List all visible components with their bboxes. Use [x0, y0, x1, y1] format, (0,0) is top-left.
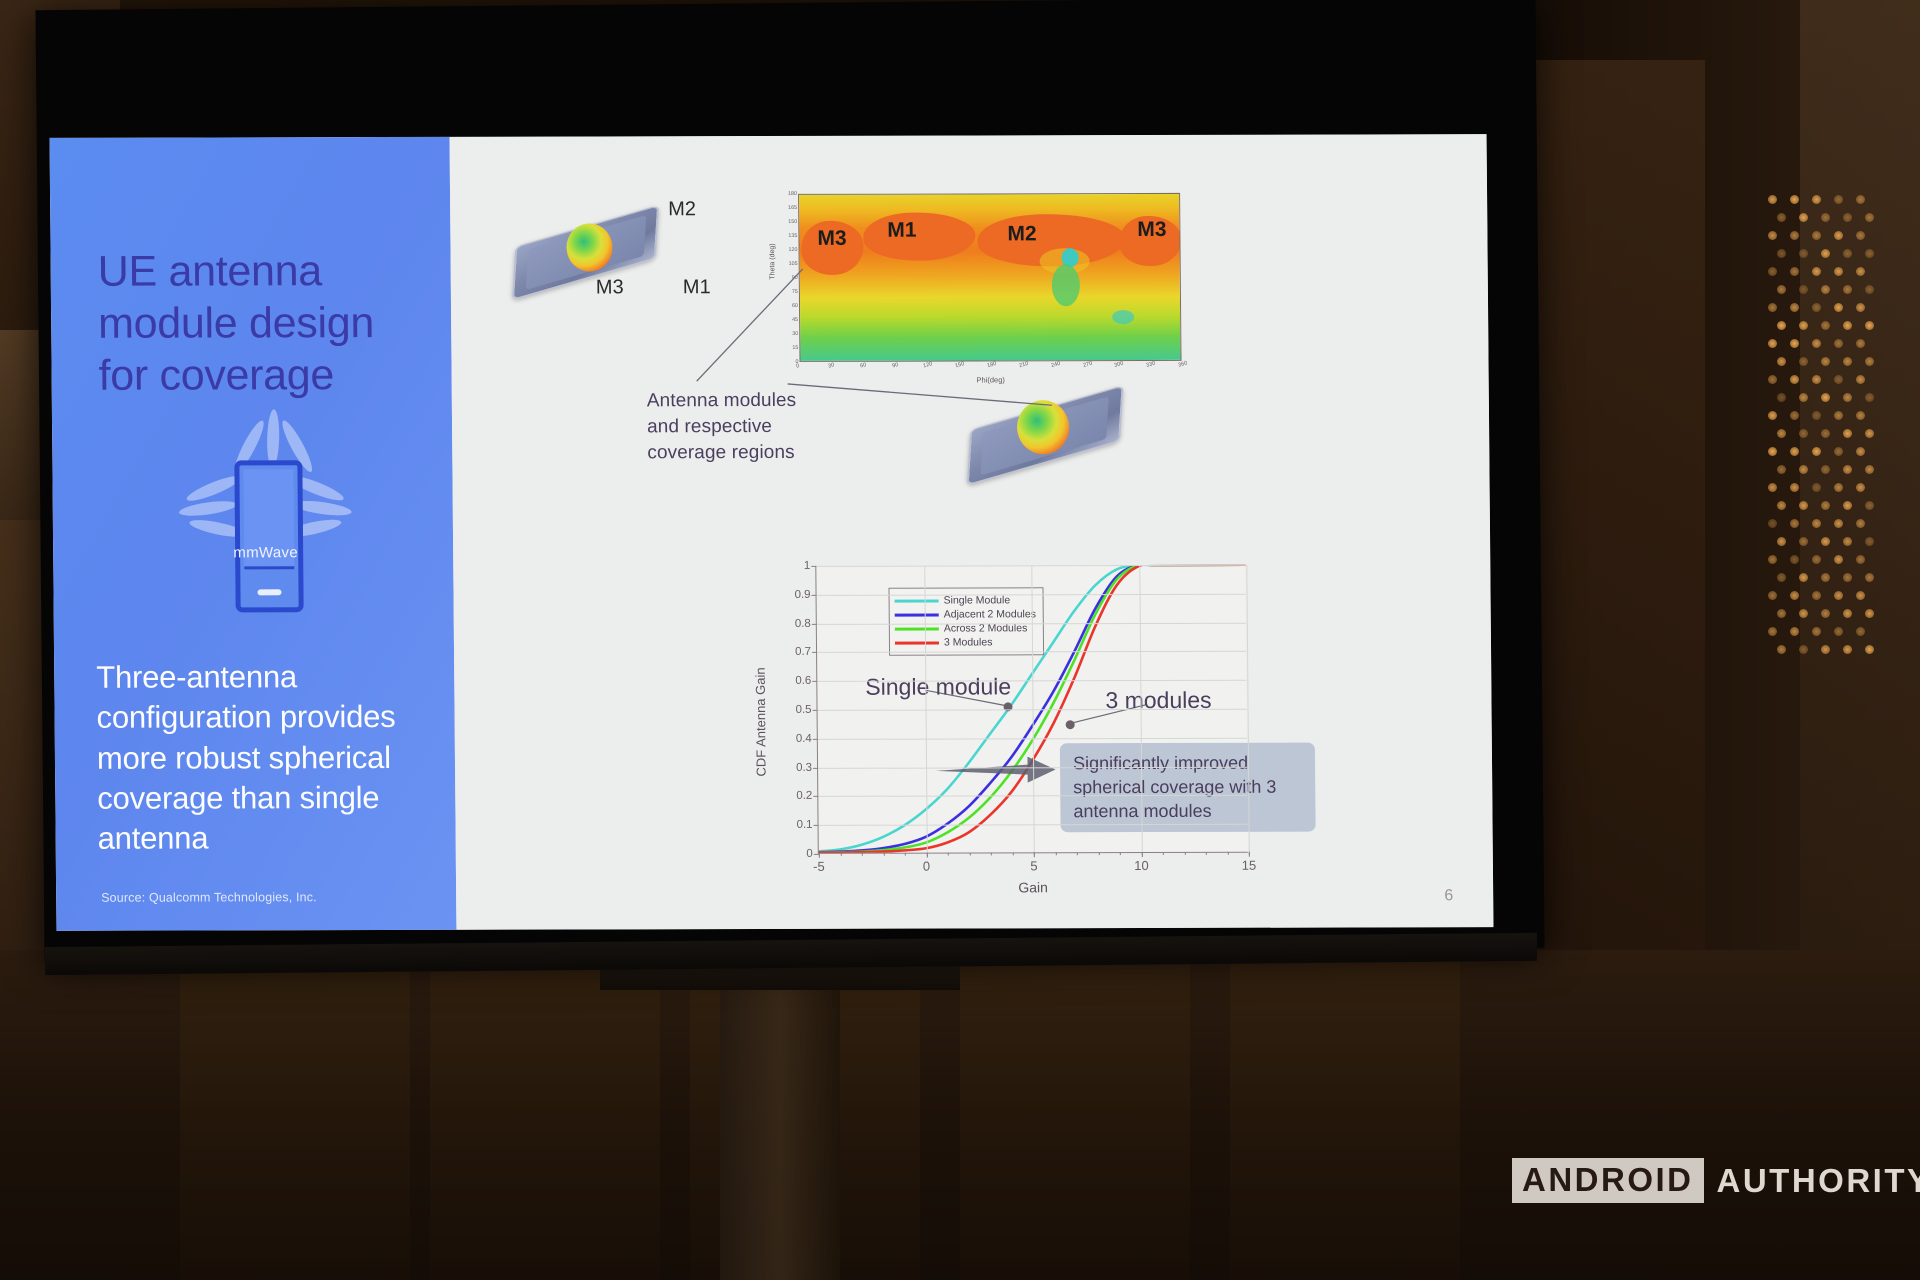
- cdf-y-tickmark: [812, 652, 817, 653]
- page-title: UE antenna module design for coverage: [97, 245, 428, 402]
- chandelier-bead: [1856, 519, 1865, 528]
- chandelier-bead: [1843, 501, 1852, 510]
- chandelier-bead: [1821, 429, 1830, 438]
- chandelier-bead: [1777, 609, 1786, 618]
- chandelier-bead: [1865, 609, 1874, 618]
- chandelier-bead: [1768, 519, 1777, 528]
- chandelier-bead: [1812, 447, 1821, 456]
- cdf-x-minor-tickmark: [1249, 852, 1250, 855]
- watermark-authority: AUTHORITY: [1704, 1162, 1920, 1200]
- watermark: ANDROID AUTHORITY: [1512, 1158, 1920, 1203]
- mmwave-phone-illustration: mmWave: [202, 422, 329, 612]
- module-label-m3: M3: [596, 276, 624, 299]
- cdf-y-tick: 0.5: [795, 704, 811, 716]
- heatmap-y-axis-label: Theta (deg): [769, 243, 776, 279]
- chandelier-bead: [1843, 465, 1852, 474]
- wave-icon: [178, 498, 237, 518]
- chandelier-bead: [1812, 231, 1821, 240]
- cdf-x-tick: -5: [813, 859, 825, 874]
- chandelier-bead: [1777, 321, 1786, 330]
- chandelier-bead: [1856, 375, 1865, 384]
- cdf-y-tick: 0.8: [795, 617, 811, 629]
- heatmap-y-tick: 75: [770, 289, 798, 295]
- chandelier-bead: [1799, 501, 1808, 510]
- cdf-y-tick: 0.1: [797, 819, 813, 831]
- heatmap-x-tick: 180: [987, 361, 998, 369]
- chandelier-bead: [1777, 501, 1786, 510]
- slide-content: UE antenna module design for coverage mm…: [50, 134, 1494, 931]
- chandelier-bead: [1799, 249, 1808, 258]
- heatmap-y-tick: 135: [769, 233, 797, 239]
- title-line-3: for coverage: [98, 349, 428, 402]
- chandelier-bead: [1843, 393, 1852, 402]
- chandelier-bead: [1865, 357, 1874, 366]
- chandelier-bead: [1790, 411, 1799, 420]
- chandelier-bead: [1812, 267, 1821, 276]
- chandelier-bead: [1768, 447, 1777, 456]
- chandelier-bead: [1790, 339, 1799, 348]
- chandelier-bead: [1843, 573, 1852, 582]
- heatmap-x-tick: 150: [955, 361, 966, 369]
- chandelier-light: [1760, 195, 1875, 665]
- heatmap-x-tick: 0: [796, 363, 801, 370]
- chandelier-bead: [1834, 339, 1843, 348]
- chandelier-bead: [1865, 537, 1874, 546]
- chandelier-bead: [1865, 645, 1874, 654]
- body-line-3: more robust spherical: [97, 737, 427, 778]
- heatmap-y-tick: 180: [769, 191, 797, 197]
- chandelier-bead: [1856, 267, 1865, 276]
- cdf-x-minor-tickmark: [926, 853, 927, 856]
- chandelier-bead: [1768, 411, 1777, 420]
- wood-column-a: [1525, 60, 1705, 1060]
- slide-body-text: Three-antenna configuration provides mor…: [96, 657, 428, 859]
- cdf-x-minor-tickmark: [862, 853, 863, 856]
- heatmap-region: [1112, 310, 1134, 324]
- chandelier-bead: [1821, 537, 1830, 546]
- annotation-line-3: coverage regions: [647, 439, 877, 465]
- chandelier-bead: [1834, 267, 1843, 276]
- source-credit: Source: Qualcomm Technologies, Inc.: [101, 890, 317, 905]
- heatmap-label-m3-right: M3: [1137, 218, 1166, 242]
- chandelier-bead: [1843, 213, 1852, 222]
- chandelier-bead: [1834, 519, 1843, 528]
- cdf-x-minor-tickmark: [991, 852, 992, 855]
- chandelier-bead: [1821, 357, 1830, 366]
- cdf-x-minor-tickmark: [1012, 852, 1013, 855]
- chandelier-bead: [1856, 447, 1865, 456]
- chandelier-bead: [1768, 375, 1777, 384]
- cdf-y-tickmark: [811, 566, 816, 567]
- legend-swatch-single-module: [895, 599, 939, 602]
- heatmap-y-tick: 150: [769, 219, 797, 225]
- chandelier-bead: [1834, 555, 1843, 564]
- chandelier-bead: [1865, 213, 1874, 222]
- chandelier-bead: [1790, 231, 1799, 240]
- chandelier-bead: [1865, 501, 1874, 510]
- chandelier-bead: [1812, 375, 1821, 384]
- chandelier-bead: [1768, 555, 1777, 564]
- heatmap-x-tick: 210: [1018, 361, 1029, 369]
- legend-swatch-adjacent-2-modules: [895, 613, 939, 616]
- chandelier-bead: [1843, 285, 1852, 294]
- chandelier-bead: [1812, 195, 1821, 204]
- chandelier-bead: [1790, 267, 1799, 276]
- modules-annotation: Antenna modules and respective coverage …: [647, 388, 878, 466]
- title-line-2: module design: [98, 297, 428, 350]
- heatmap-y-tick: 15: [770, 345, 798, 351]
- chandelier-bead: [1856, 339, 1865, 348]
- watermark-android: ANDROID: [1512, 1158, 1704, 1203]
- chandelier-bead: [1843, 249, 1852, 258]
- chandelier-bead: [1856, 195, 1865, 204]
- chandelier-bead: [1790, 447, 1799, 456]
- legend-label: Single Module: [944, 594, 1011, 606]
- chandelier-bead: [1821, 609, 1830, 618]
- coverage-beam: [1017, 400, 1069, 454]
- page-number: 6: [1444, 887, 1453, 905]
- chandelier-bead: [1812, 627, 1821, 636]
- chandelier-bead: [1799, 645, 1808, 654]
- chandelier-bead: [1799, 213, 1808, 222]
- chandelier-bead: [1821, 393, 1830, 402]
- legend-label: 3 Modules: [944, 636, 993, 648]
- chandelier-bead: [1777, 393, 1786, 402]
- chandelier-bead: [1856, 555, 1865, 564]
- heatmap-x-tick: 330: [1146, 361, 1157, 369]
- chart-legend: Single Module Adjacent 2 Modules Across …: [888, 587, 1044, 655]
- chandelier-bead: [1821, 645, 1830, 654]
- cdf-x-axis-label: Gain: [818, 879, 1248, 896]
- heatmap-y-tick: 45: [770, 317, 798, 323]
- chandelier-bead: [1865, 321, 1874, 330]
- chandelier-bead: [1777, 213, 1786, 222]
- cdf-x-minor-tickmark: [1055, 852, 1056, 855]
- legend-item: Adjacent 2 Modules: [895, 607, 1037, 621]
- chandelier-bead: [1799, 357, 1808, 366]
- annotation-point-3-modules: [1066, 720, 1075, 729]
- cdf-y-tickmark: [812, 595, 817, 596]
- chandelier-bead: [1834, 303, 1843, 312]
- heatmap-label-m3-left: M3: [817, 227, 846, 251]
- cdf-x-minor-tickmark: [1098, 852, 1099, 855]
- chandelier-bead: [1834, 411, 1843, 420]
- cdf-y-tick: 0.4: [796, 733, 812, 745]
- chandelier-bead: [1834, 195, 1843, 204]
- cdf-x-minor-tickmark: [819, 853, 820, 856]
- heatmap-y-tick: 60: [770, 303, 798, 309]
- chandelier-bead: [1821, 465, 1830, 474]
- heatmap-y-tick: 165: [769, 205, 797, 211]
- legend-label: Across 2 Modules: [944, 622, 1028, 634]
- heatmap-y-tick: 0: [770, 359, 798, 365]
- legend-label: Adjacent 2 Modules: [944, 608, 1036, 620]
- heatmap-x-tick: 90: [891, 362, 899, 369]
- chandelier-bead: [1799, 429, 1808, 438]
- chandelier-bead: [1843, 357, 1852, 366]
- chandelier-bead: [1799, 321, 1808, 330]
- chandelier-bead: [1865, 249, 1874, 258]
- chandelier-bead: [1812, 483, 1821, 492]
- heatmap-x-tick: 360: [1178, 360, 1189, 368]
- chandelier-bead: [1768, 195, 1777, 204]
- title-line-1: UE antenna: [97, 245, 427, 298]
- heatmap-plot-area: M3 M1 M2 M3: [798, 193, 1181, 362]
- annotation-line-1: Antenna modules: [647, 388, 877, 414]
- phone-render-left: [510, 206, 661, 298]
- chandelier-bead: [1834, 447, 1843, 456]
- chandelier-bead: [1777, 537, 1786, 546]
- chandelier-bead: [1812, 591, 1821, 600]
- chandelier-bead: [1834, 591, 1843, 600]
- chandelier-bead: [1777, 429, 1786, 438]
- cdf-x-tick: 0: [923, 859, 930, 874]
- module-label-m1: M1: [683, 276, 711, 299]
- heatmap-x-tick: 300: [1114, 361, 1125, 369]
- slide-left-panel: UE antenna module design for coverage mm…: [50, 137, 457, 931]
- chandelier-bead: [1790, 591, 1799, 600]
- cdf-x-minor-tickmark: [883, 853, 884, 856]
- chandelier-bead: [1843, 537, 1852, 546]
- chandelier-bead: [1865, 285, 1874, 294]
- cdf-chart: Single Module Adjacent 2 Modules Across …: [753, 553, 1276, 904]
- cdf-y-tick: 0.3: [796, 761, 812, 773]
- cdf-x-minor-tickmark: [905, 853, 906, 856]
- annotation-line-2: and respective: [647, 414, 877, 440]
- cdf-y-tickmark: [813, 796, 818, 797]
- chandelier-bead: [1768, 627, 1777, 636]
- cdf-y-tick: 0: [806, 848, 813, 860]
- chandelier-bead: [1790, 555, 1799, 564]
- chandelier-bead: [1799, 465, 1808, 474]
- cdf-y-axis-label: CDF Antenna Gain: [753, 667, 769, 776]
- chandelier-bead: [1821, 501, 1830, 510]
- body-line-1: Three-antenna: [96, 657, 426, 698]
- chandelier-bead: [1790, 375, 1799, 384]
- chandelier-bead: [1799, 537, 1808, 546]
- chandelier-bead: [1865, 573, 1874, 582]
- body-line-5: antenna: [97, 818, 427, 859]
- floor-plank: [960, 950, 1190, 1280]
- body-line-4: coverage than single: [97, 778, 427, 819]
- chandelier-bead: [1812, 555, 1821, 564]
- chandelier-bead: [1843, 609, 1852, 618]
- cdf-x-minor-tickmark: [1141, 852, 1142, 855]
- chandelier-bead: [1768, 231, 1777, 240]
- cdf-y-tickmark: [813, 739, 818, 740]
- chandelier-bead: [1790, 195, 1799, 204]
- cdf-x-minor-tickmark: [948, 853, 949, 856]
- cdf-plot-area: Single Module Adjacent 2 Modules Across …: [815, 565, 1248, 854]
- chandelier-bead: [1768, 483, 1777, 492]
- chandelier-bead: [1834, 483, 1843, 492]
- heatmap-x-axis-label: Phi(deg): [800, 375, 1182, 385]
- chandelier-bead: [1856, 411, 1865, 420]
- chandelier-bead: [1821, 285, 1830, 294]
- cdf-x-minor-tickmark: [840, 853, 841, 856]
- chandelier-bead: [1834, 627, 1843, 636]
- heatmap-x-tick: 60: [859, 362, 867, 369]
- cdf-x-minor-tickmark: [1034, 852, 1035, 855]
- cdf-y-tickmark: [814, 825, 819, 826]
- module-label-m2: M2: [668, 198, 696, 221]
- chandelier-bead: [1856, 483, 1865, 492]
- annotation-single-module: Single module: [865, 673, 1011, 700]
- heatmap-x-tick: 270: [1082, 361, 1093, 369]
- chandelier-bead: [1865, 429, 1874, 438]
- chandelier-bead: [1790, 519, 1799, 528]
- chandelier-bead: [1799, 609, 1808, 618]
- chandelier-bead: [1856, 591, 1865, 600]
- chandelier-bead: [1843, 429, 1852, 438]
- cdf-y-tick: 0.6: [795, 675, 811, 687]
- heatmap-x-tick: 240: [1050, 361, 1061, 369]
- heatmap-label-m1: M1: [887, 219, 916, 243]
- phone-render-bottom: [965, 387, 1126, 483]
- phone-icon: [234, 460, 303, 612]
- chandelier-bead: [1865, 393, 1874, 402]
- cdf-y-tick: 0.7: [795, 646, 811, 658]
- screen-stand-post: [720, 985, 840, 1280]
- chandelier-bead: [1856, 231, 1865, 240]
- chandelier-bead: [1812, 339, 1821, 348]
- chandelier-bead: [1777, 573, 1786, 582]
- mmwave-label: mmWave: [203, 544, 328, 561]
- chandelier-bead: [1834, 231, 1843, 240]
- cdf-y-tickmark: [812, 681, 817, 682]
- chandelier-bead: [1799, 285, 1808, 294]
- chandelier-bead: [1843, 645, 1852, 654]
- chandelier-bead: [1777, 249, 1786, 258]
- callout-line-3: antenna modules: [1073, 799, 1302, 823]
- chandelier-bead: [1799, 573, 1808, 582]
- chandelier-bead: [1768, 267, 1777, 276]
- chandelier-bead: [1777, 357, 1786, 366]
- cdf-y-tickmark: [813, 767, 818, 768]
- cdf-x-tick: 5: [1030, 858, 1037, 873]
- improvement-callout: Significantly improved spherical coverag…: [1060, 743, 1316, 833]
- chandelier-bead: [1777, 645, 1786, 654]
- chandelier-bead: [1768, 303, 1777, 312]
- cdf-y-tickmark: [812, 623, 817, 624]
- callout-line-1: Significantly improved: [1073, 752, 1302, 776]
- chandelier-bead: [1821, 249, 1830, 258]
- phone-home-button-icon: [257, 589, 281, 595]
- heatmap-x-tick: 30: [827, 362, 835, 369]
- body-line-2: configuration provides: [96, 697, 426, 738]
- chandelier-bead: [1812, 303, 1821, 312]
- chandelier-bead: [1821, 573, 1830, 582]
- coverage-heatmap: M3 M1 M2 M3 0153045607590105120135150165…: [760, 185, 1192, 386]
- heatmap-x-tick: 120: [923, 361, 934, 369]
- cdf-x-minor-tickmark: [1120, 852, 1121, 855]
- floor-plank: [1230, 950, 1460, 1280]
- chandelier-bead: [1768, 339, 1777, 348]
- heatmap-y-tick: 30: [770, 331, 798, 337]
- chandelier-bead: [1843, 321, 1852, 330]
- cdf-x-minor-tickmark: [1227, 852, 1228, 855]
- chandelier-bead: [1821, 213, 1830, 222]
- wave-icon: [266, 409, 280, 467]
- floor-plank: [180, 950, 410, 1280]
- legend-swatch-3-modules: [895, 641, 939, 644]
- heatmap-gradient: [799, 194, 1180, 361]
- cdf-x-minor-tickmark: [969, 852, 970, 855]
- legend-swatch-across-2-modules: [895, 627, 939, 630]
- cdf-y-tick: 0.9: [794, 589, 810, 601]
- cdf-y-tick: 1: [804, 560, 811, 572]
- cdf-x-minor-tickmark: [1184, 852, 1185, 855]
- coverage-beam: [566, 223, 612, 271]
- floor-plank: [430, 950, 660, 1280]
- cdf-y-tick: 0.2: [796, 790, 812, 802]
- heatmap-region: [1052, 264, 1080, 306]
- chandelier-bead: [1856, 627, 1865, 636]
- cdf-x-minor-tickmark: [1163, 852, 1164, 855]
- chandelier-bead: [1812, 519, 1821, 528]
- chandelier-bead: [1834, 375, 1843, 384]
- slide-right-panel: M2 M3 M1 M3 M: [450, 134, 1494, 930]
- chandelier-bead: [1865, 465, 1874, 474]
- heatmap-label-m2: M2: [1007, 222, 1036, 246]
- chandelier-bead: [1777, 465, 1786, 474]
- chandelier-bead: [1790, 483, 1799, 492]
- cdf-x-tick: 15: [1242, 858, 1257, 873]
- chandelier-bead: [1812, 411, 1821, 420]
- cdf-x-minor-tickmark: [1206, 852, 1207, 855]
- legend-item: 3 Modules: [895, 635, 1037, 649]
- cdf-y-tickmark: [813, 710, 818, 711]
- chandelier-bead: [1799, 393, 1808, 402]
- legend-item: Single Module: [895, 593, 1037, 607]
- chandelier-bead: [1856, 303, 1865, 312]
- chandelier-bead: [1768, 591, 1777, 600]
- chandelier-bead: [1790, 303, 1799, 312]
- cdf-x-minor-tickmark: [1077, 852, 1078, 855]
- chandelier-bead: [1777, 285, 1786, 294]
- chandelier-bead: [1821, 321, 1830, 330]
- chandelier-bead: [1790, 627, 1799, 636]
- cdf-x-tick: 10: [1134, 858, 1149, 873]
